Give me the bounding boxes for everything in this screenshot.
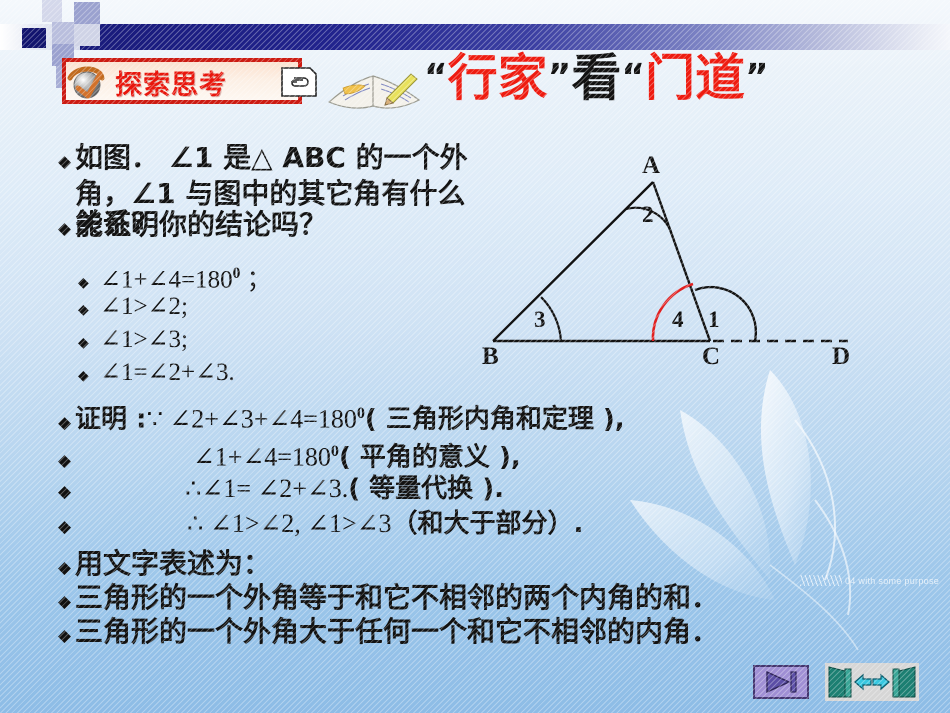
bullet-marker: ◆ (58, 619, 75, 653)
vertex-label-b: B (482, 343, 499, 371)
prompt-line-2-text: 角，∠1 与图中的其它角有什么 (75, 177, 465, 210)
title-word-doorway: 门道 (645, 49, 745, 107)
banner-navy-bar (80, 24, 950, 50)
next-slide-icon (755, 667, 807, 697)
proof-line-3-reason: ( 等量代换 ). (348, 474, 504, 504)
proof-line-4-math: ∴ ∠1>∠2, ∠1>∠3 (187, 509, 392, 538)
conclusion-3-text: ∠1>∠3; (100, 326, 188, 353)
proof-line-3: ◆∴∠1= ∠2+∠3.( 等量代换 ). (58, 473, 504, 508)
conclusion-item-4: ◆∠1=∠2+∠3. (78, 358, 235, 392)
proof-line-2-math: ∠1+∠4=180 (193, 443, 331, 472)
summary-label-line: ◆用文字表述为： (58, 547, 271, 585)
watermark-text: 04 with some purpose (845, 576, 939, 586)
deco-square-lav-1 (52, 22, 74, 44)
open-book-icon (325, 58, 425, 116)
conclusion-1-tail: ； (240, 266, 271, 293)
vertex-label-a: A (642, 152, 660, 180)
arc-angle-1 (695, 287, 756, 341)
conclusion-1-text: ∠1+∠4=180 (100, 266, 233, 293)
exit-doors-button[interactable] (825, 663, 919, 701)
proof-line-2: ◆∠1+∠4=1800( 平角的意义 ), (58, 436, 521, 477)
proof-line-1-math: ∵ ∠2+∠3+∠4=180 (146, 405, 356, 434)
title-quote-close-1: ” (548, 57, 572, 98)
proof-line-1: ◆证明 :∵ ∠2+∠3+∠4=1800( 三角形内角和定理 ), (58, 398, 625, 439)
bullet-marker: ◆ (58, 145, 75, 179)
proof-line-3-math: ∴∠1= ∠2+∠3. (185, 474, 348, 503)
bullet-marker: ◆ (58, 511, 75, 543)
title-quote-open-1: “ (424, 57, 448, 98)
title-word-see: 看 (571, 49, 621, 107)
deco-square-lav-3 (74, 2, 100, 24)
bullet-marker: ◆ (78, 362, 100, 392)
angle-label-2: 2 (642, 202, 654, 228)
title-quote-open-2: “ (621, 57, 645, 98)
deco-square-navy (22, 28, 46, 48)
proof-line-4-reason: （和大于部分）. (392, 509, 584, 539)
conclusion-item-2: ◆∠1>∠2; (78, 292, 188, 326)
angle-label-4: 4 (672, 307, 684, 333)
vertex-label-d: D (832, 343, 850, 371)
angle-label-1: 1 (708, 307, 720, 333)
bullet-marker: ◆ (78, 296, 100, 326)
prompt-line-1-text: 如图． ∠1 是△ ABC 的一个外 (75, 141, 468, 174)
conclusion-item-3: ◆∠1>∠3; (78, 325, 188, 359)
proof-label: 证明 : (75, 405, 146, 435)
section-badge-label: 探索思考 (115, 63, 227, 102)
proof-line-1-degree: 0 (357, 405, 365, 422)
summary-line-1: ◆三角形的一个外角等于和它不相邻的两个内角的和． (58, 581, 719, 619)
bullet-marker: ◆ (58, 585, 75, 619)
summary-line-1-text: 三角形的一个外角等于和它不相邻的两个内角的和． (75, 581, 719, 614)
bullet-marker: ◆ (58, 407, 75, 439)
prompt-line-1: ◆如图． ∠1 是△ ABC 的一个外 (58, 141, 468, 179)
conclusion-4-text: ∠1=∠2+∠3. (100, 359, 235, 386)
triangle-diagram: A B C 2 3 4 1 (470, 150, 890, 380)
deco-square-lav-4 (74, 24, 100, 46)
proof-line-4: ◆∴ ∠1>∠2, ∠1>∠3（和大于部分）. (58, 508, 583, 543)
summary-label-text: 用文字表述为： (75, 547, 271, 580)
segment-ba (493, 182, 653, 341)
angle-label-3: 3 (534, 307, 546, 333)
next-slide-button[interactable] (753, 665, 809, 699)
proof-line-1-reason: ( 三角形内角和定理 ), (365, 405, 625, 435)
summary-line-2-text: 三角形的一个外角大于任何一个和它不相邻的内角． (75, 615, 719, 648)
bullet-marker: ◆ (58, 476, 75, 508)
exit-doors-icon (825, 663, 919, 701)
title-word-expert: 行家 (448, 49, 548, 107)
title-quote-close-2: ” (745, 57, 769, 98)
page-title: “行家”看“门道” (424, 50, 769, 106)
summary-line-2: ◆三角形的一个外角大于任何一个和它不相邻的内角． (58, 615, 719, 653)
pointing-hand-icon (280, 62, 320, 102)
presentation-slide: 探索思考 “行家”看“门道” ◆如图． ∠1 是△ ABC 的一个外 角，∠1 … (0, 0, 950, 713)
bullet-marker: ◆ (78, 329, 100, 359)
proof-line-2-reason: ( 平角的意义 ), (339, 443, 521, 473)
watermark-hatch (800, 575, 842, 586)
globe-icon (66, 62, 108, 104)
prompt-line-3: ◆能证明你的结论吗？ (58, 208, 327, 246)
prompt-line-3-text: 能证明你的结论吗？ (75, 208, 327, 241)
deco-square-lav-5 (42, 0, 62, 22)
bullet-marker: ◆ (58, 551, 75, 585)
proof-line-2-degree: 0 (331, 443, 339, 460)
conclusion-2-text: ∠1>∠2; (100, 293, 188, 320)
bullet-marker: ◆ (58, 445, 75, 477)
vertex-label-c: C (702, 343, 720, 371)
bullet-marker: ◆ (58, 212, 75, 246)
